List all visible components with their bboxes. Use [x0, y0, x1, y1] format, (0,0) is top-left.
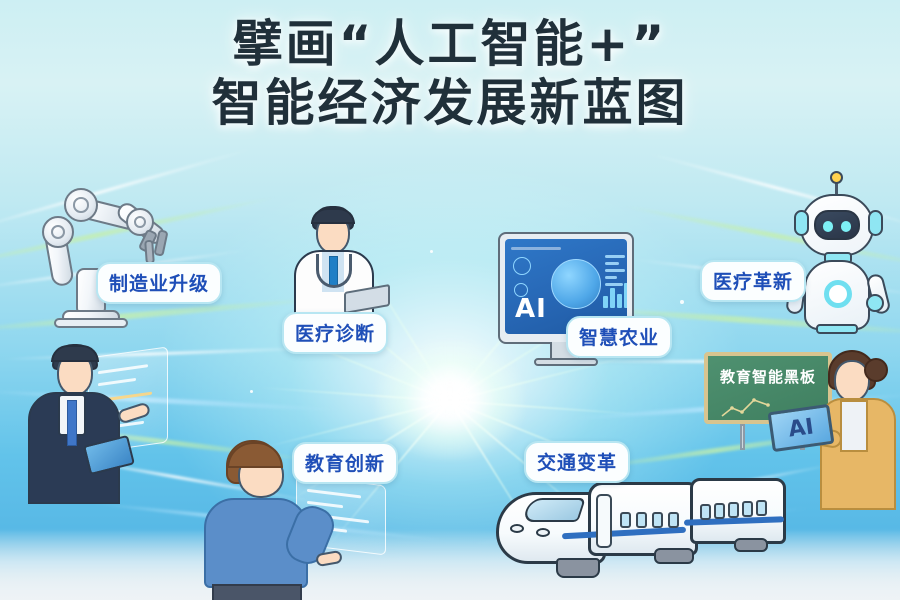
label-medical-diagnosis[interactable]: 医疗诊断 — [282, 312, 388, 354]
teacher-laptop: AI — [768, 404, 835, 452]
label-medical-innovation[interactable]: 医疗革新 — [700, 260, 806, 302]
train-windshield — [522, 498, 586, 522]
robot-eye-right — [841, 221, 851, 232]
train-bogie — [556, 558, 600, 578]
industrial-robot-arm — [18, 172, 178, 332]
train-window — [668, 512, 679, 528]
sparkle-dot — [430, 250, 433, 253]
doctor-with-laptop — [286, 206, 396, 316]
train-window — [620, 512, 631, 528]
train-window — [636, 512, 647, 528]
robot-chest-core — [824, 280, 852, 308]
pointing-hand — [117, 401, 152, 424]
train-window — [728, 502, 739, 518]
label-smart-agriculture[interactable]: 智慧农业 — [566, 316, 672, 358]
train-window — [652, 512, 663, 528]
sparkle-dot — [250, 390, 253, 393]
blackboard-leg — [740, 424, 745, 450]
monitor-ai-text: AI — [515, 294, 547, 324]
label-education-innovation[interactable]: 教育创新 — [292, 442, 398, 484]
man-trousers — [212, 584, 302, 600]
woman-hair-bun — [864, 358, 888, 382]
businessman-with-tablet — [26, 344, 156, 504]
robot-antenna-ball — [830, 171, 843, 184]
train-bogie — [654, 548, 694, 564]
train-headlight — [510, 524, 524, 533]
robot-shoulder-joint — [866, 294, 884, 312]
ai-economy-poster: 擘画“人工智能+” 智能经济发展新蓝图 — [0, 0, 900, 600]
robot-eye-left — [823, 221, 833, 232]
train-bogie — [734, 538, 768, 552]
blackboard-text: 教育智能黑板 — [708, 366, 828, 387]
robot-waist — [816, 324, 858, 334]
train-window — [756, 500, 767, 516]
white-humanoid-robot — [786, 176, 892, 336]
title-line-1: 擘画“人工智能+” — [0, 18, 900, 71]
label-transport-reform[interactable]: 交通变革 — [524, 441, 630, 483]
train-window — [700, 504, 711, 520]
robot-gripper — [144, 240, 155, 265]
train-headlight — [536, 528, 550, 537]
train-window — [714, 503, 725, 519]
high-speed-train — [496, 470, 796, 580]
title-line-2: 智能经济发展新蓝图 — [0, 77, 900, 130]
train-window — [742, 501, 753, 517]
train-door — [596, 494, 612, 548]
businessman-tie — [67, 400, 77, 446]
laptop-ai-text: AI — [787, 414, 815, 442]
label-manufacturing[interactable]: 制造业升级 — [96, 262, 222, 304]
robot-face-visor — [814, 210, 860, 240]
poster-title: 擘画“人工智能+” 智能经济发展新蓝图 — [0, 18, 900, 130]
globe-icon — [551, 259, 601, 309]
sparkle-dot — [680, 300, 684, 304]
gauge-icon — [513, 257, 531, 275]
robot-ear-right — [868, 210, 883, 236]
robot-ear-left — [794, 210, 809, 236]
